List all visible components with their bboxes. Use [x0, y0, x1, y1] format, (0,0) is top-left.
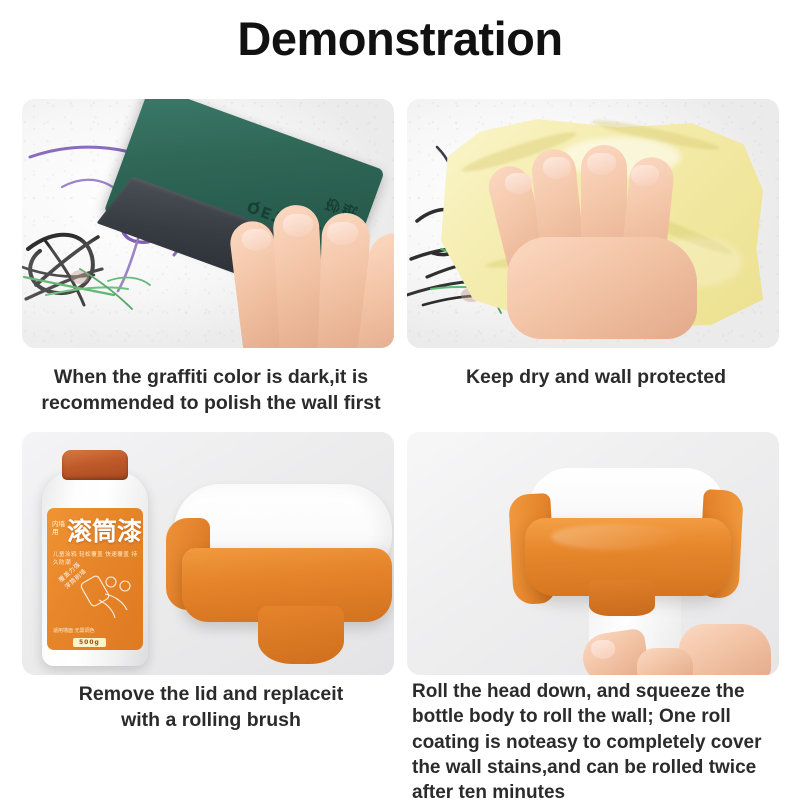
roller-stem — [258, 606, 344, 664]
panel-3-caption: Remove the lid and replaceit with a roll… — [22, 681, 400, 734]
fingernail — [543, 157, 571, 179]
demo-panel-1[interactable]: HS QETAO×CC 砂纸 — [22, 99, 394, 348]
photo-bottle-and-roller: 内墙用 滚筒漆 儿童涂鸦 轻松覆盖 快速覆盖 持久防潮 覆盖力强 滓筒刷墙 适用… — [22, 432, 394, 675]
page-title: Demonstration — [0, 14, 800, 65]
fingernail — [587, 153, 616, 175]
panel-2-caption: Keep dry and wall protected — [407, 364, 785, 390]
fingernail — [631, 165, 659, 186]
hand-wiping — [499, 127, 719, 339]
hand-squeezing-bottle — [583, 618, 769, 675]
roller-brush-head — [166, 484, 392, 666]
photo-rolling-on-wall — [407, 432, 779, 675]
fingernail — [505, 173, 532, 194]
bottle-cap — [62, 450, 128, 480]
roller-stem — [589, 580, 655, 616]
photo-sanding-graffiti-wall: HS QETAO×CC 砂纸 — [22, 99, 394, 348]
panel-1-caption: When the graffiti color is dark,it is re… — [22, 364, 400, 417]
demo-panel-2[interactable] — [407, 99, 779, 348]
bottle-label-weight: 500g — [73, 638, 106, 647]
fingernail — [283, 214, 313, 237]
bottle-label-footer-text: 适用墙面 无需调色 — [53, 628, 139, 635]
bottle-label-illustration: 覆盖力强 滓筒刷墙 — [55, 564, 135, 626]
fingernail — [327, 222, 358, 245]
finger — [637, 648, 693, 675]
panel-4-caption: Roll the head down, and squeeze the bott… — [412, 679, 792, 805]
bottle-label: 内墙用 滚筒漆 儿童涂鸦 轻松覆盖 快速覆盖 持久防潮 覆盖力强 滓筒刷墙 适用… — [47, 508, 143, 650]
demo-panel-3[interactable]: 内墙用 滚筒漆 儿童涂鸦 轻松覆盖 快速覆盖 持久防潮 覆盖力强 滓筒刷墙 适用… — [22, 432, 394, 675]
fingernail — [591, 640, 615, 659]
bottle-label-side-text: 内墙用 — [52, 520, 66, 536]
photo-wiping-with-cloth — [407, 99, 779, 348]
hand-holding-sanding-block — [236, 203, 394, 348]
demo-panel-4[interactable] — [407, 432, 779, 675]
fingernail — [242, 229, 271, 251]
bottle-label-main-text: 滚筒漆 — [67, 519, 142, 544]
roller-brush-head — [511, 468, 739, 638]
paint-bottle: 内墙用 滚筒漆 儿童涂鸦 轻松覆盖 快速覆盖 持久防潮 覆盖力强 滓筒刷墙 适用… — [42, 450, 148, 666]
palm — [507, 237, 697, 339]
